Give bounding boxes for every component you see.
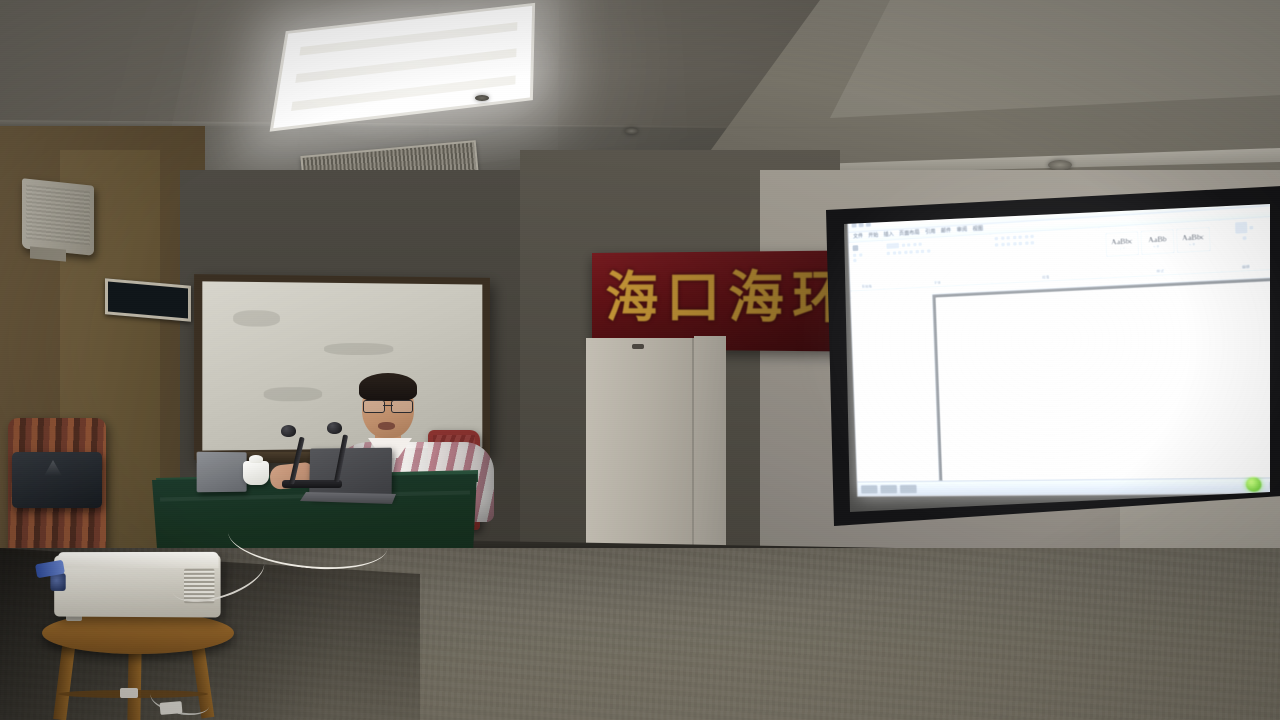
nav-heading[interactable]	[863, 302, 864, 319]
clear-format-icon[interactable]	[918, 242, 922, 246]
downlight-icon	[625, 128, 638, 134]
style-name: 标题 2	[1188, 242, 1198, 247]
superscript-icon[interactable]	[915, 249, 919, 253]
wall-partition-panel	[694, 336, 726, 552]
paste-icon[interactable]	[852, 245, 858, 252]
tab-view[interactable]: 视图	[972, 225, 983, 235]
projected-image: 文件 开始 插入 页面布局 引用 邮件 审阅 视图 剪贴板	[826, 196, 1270, 514]
multilevel-list-icon[interactable]	[1006, 236, 1010, 240]
document-page[interactable]	[936, 281, 1270, 484]
tab-review[interactable]: 审阅	[956, 226, 967, 236]
align-left-icon[interactable]	[994, 242, 998, 246]
downlight-icon	[1048, 160, 1072, 170]
nav-heading[interactable]	[870, 302, 871, 319]
nav-heading[interactable]	[909, 300, 910, 318]
decrease-indent-icon[interactable]	[1012, 235, 1016, 240]
text-line	[969, 303, 970, 321]
grow-font-icon[interactable]	[907, 243, 911, 247]
text-line	[969, 303, 970, 321]
style-item-normal[interactable]: AaBbc 正文	[1105, 231, 1139, 257]
text-highlight-icon[interactable]	[920, 249, 924, 253]
sort-icon[interactable]	[1024, 235, 1029, 240]
replace-icon[interactable]	[1249, 225, 1254, 230]
laptop-bag	[12, 452, 102, 508]
font-color-icon[interactable]	[926, 248, 930, 252]
navigation-pane[interactable]	[851, 295, 939, 488]
projector-lens	[50, 573, 65, 591]
whiteboard-smudge	[324, 343, 393, 355]
ribbon-group-font[interactable]: 字体	[883, 235, 993, 289]
tab-file[interactable]: 文件	[853, 232, 863, 242]
select-icon[interactable]	[1242, 235, 1247, 240]
whiteboard-smudge	[233, 310, 280, 326]
power-adapter	[120, 688, 138, 698]
group-label-editing: 编辑	[1222, 263, 1270, 271]
tab-insert[interactable]: 插入	[883, 230, 894, 240]
borders-icon[interactable]	[1030, 240, 1035, 245]
style-item-heading2[interactable]: AaBbc 标题 2	[1176, 227, 1211, 253]
nav-heading[interactable]	[863, 302, 864, 319]
wall-partition-panel	[586, 338, 694, 550]
text-line	[969, 303, 970, 321]
copy-icon[interactable]	[858, 252, 862, 256]
tray-status-icon[interactable]	[1246, 477, 1262, 492]
ribbon-group-paragraph[interactable]: 段落	[991, 228, 1102, 283]
stool-leg	[127, 648, 141, 720]
text-line	[988, 302, 989, 320]
downlight-icon	[475, 95, 489, 101]
wall-sign-panel	[105, 278, 191, 322]
whiteboard-smudge	[264, 387, 322, 401]
tab-home[interactable]: 开始	[868, 231, 879, 241]
subscript-icon[interactable]	[909, 249, 913, 253]
show-marks-icon[interactable]	[1030, 234, 1035, 239]
format-painter-icon[interactable]	[853, 258, 857, 262]
nav-heading[interactable]	[854, 303, 855, 320]
tab-references[interactable]: 引用	[925, 228, 936, 238]
taskbar-explorer-item[interactable]	[900, 484, 917, 492]
text-line	[969, 303, 970, 321]
light-tube	[295, 48, 516, 82]
strikethrough-icon[interactable]	[903, 250, 907, 254]
cut-icon[interactable]	[853, 253, 857, 257]
microphone-head	[327, 422, 342, 434]
nav-heading[interactable]	[898, 300, 899, 318]
taskbar-start-button[interactable]	[861, 485, 878, 493]
microphone-head	[281, 425, 296, 437]
partition-handle[interactable]	[632, 344, 644, 349]
presenter-mouth	[378, 422, 395, 430]
bullets-icon[interactable]	[994, 236, 998, 240]
font-family-dropdown[interactable]	[886, 242, 900, 249]
light-tube	[291, 75, 515, 110]
ribbon-group-styles[interactable]: AaBbc 正文 AaBb 标题 1 AaBbc 标题 2	[1099, 221, 1222, 278]
document-workspace[interactable]	[851, 276, 1270, 487]
ribbon-group-editing[interactable]: 编辑	[1220, 218, 1270, 272]
tab-mailings[interactable]: 邮件	[941, 227, 952, 237]
text-line	[988, 302, 989, 320]
word-window[interactable]: 文件 开始 插入 页面布局 引用 邮件 审阅 视图 剪贴板	[847, 196, 1270, 497]
nav-heading[interactable]	[882, 301, 883, 319]
text-line	[969, 303, 970, 321]
text-line-highlighted	[969, 303, 970, 321]
search-icon[interactable]	[1234, 221, 1248, 234]
group-label-clipboard: 剪贴板	[851, 284, 884, 291]
projection-screen-surface: 文件 开始 插入 页面布局 引用 邮件 审阅 视图 剪贴板	[826, 196, 1270, 514]
ribbon-group-clipboard[interactable]: 剪贴板	[849, 241, 884, 290]
align-right-icon[interactable]	[1006, 241, 1010, 245]
style-name: 标题 1	[1153, 244, 1163, 249]
tab-layout[interactable]: 页面布局	[899, 229, 920, 240]
justify-icon[interactable]	[1012, 241, 1016, 245]
second-laptop	[197, 452, 247, 493]
text-line	[988, 302, 989, 320]
align-center-icon[interactable]	[1000, 242, 1004, 246]
text-line	[988, 302, 989, 320]
style-item-heading1[interactable]: AaBb 标题 1	[1140, 229, 1174, 255]
power-adapter	[160, 701, 183, 715]
shrink-font-icon[interactable]	[912, 242, 916, 246]
teacup	[243, 461, 269, 485]
text-line	[988, 302, 989, 320]
nav-heading[interactable]	[882, 301, 883, 319]
conference-room-photo: 海口海环院环境	[0, 0, 1280, 720]
increase-indent-icon[interactable]	[1018, 235, 1023, 240]
italic-icon[interactable]	[892, 250, 896, 254]
nav-heading[interactable]	[854, 303, 855, 320]
laptop-screen	[309, 448, 392, 499]
taskbar-word-item[interactable]	[880, 484, 897, 492]
nav-heading[interactable]	[870, 302, 871, 319]
font-size-dropdown[interactable]	[901, 243, 905, 247]
text-line	[969, 303, 970, 321]
nav-heading[interactable]	[898, 300, 899, 318]
presenter-hair	[359, 373, 417, 401]
text-line	[969, 303, 970, 321]
line-spacing-icon[interactable]	[1018, 241, 1023, 246]
wall-speaker	[22, 178, 94, 256]
underline-icon[interactable]	[898, 250, 902, 254]
glasses-icon	[363, 400, 413, 411]
style-name: 正文	[1119, 246, 1126, 251]
bold-icon[interactable]	[886, 251, 890, 255]
text-line	[988, 302, 989, 320]
style-gallery[interactable]: AaBbc 正文 AaBb 标题 1 AaBbc 标题 2	[1103, 223, 1217, 260]
numbering-icon[interactable]	[1000, 236, 1004, 240]
shading-icon[interactable]	[1024, 240, 1029, 245]
light-tube	[300, 22, 518, 55]
